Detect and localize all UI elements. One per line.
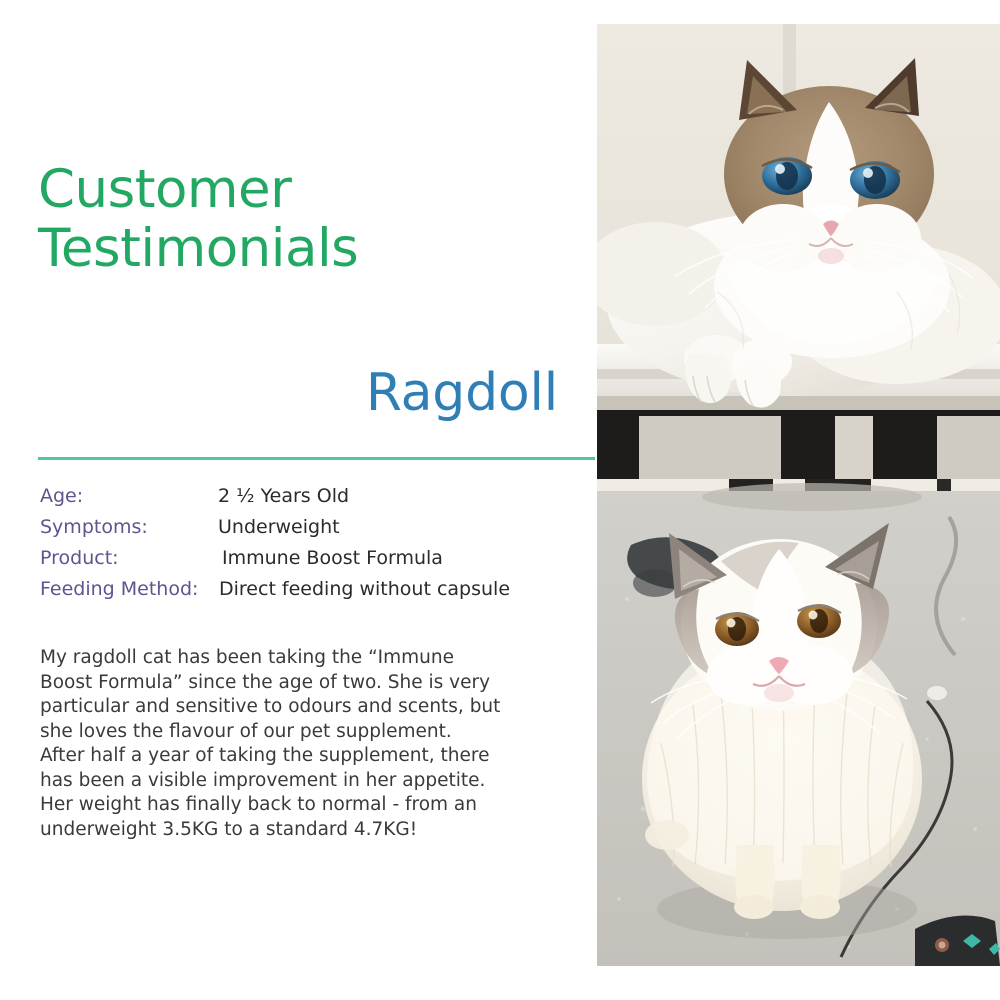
spec-row-symptoms: Symptoms: Underweight (40, 512, 560, 543)
spec-label-age: Age: (40, 481, 218, 512)
spec-value-feeding-method: Direct feeding without capsule (218, 574, 510, 605)
spec-row-product: Product: Immune Boost Formula (40, 543, 560, 574)
spec-label-feeding-method: Feeding Method: (40, 574, 218, 605)
spec-value-age: 2 ½ Years Old (218, 481, 349, 512)
spec-row-feeding-method: Feeding Method: Direct feeding without c… (40, 574, 560, 605)
testimonial-line: has been a visible improvement in her ap… (40, 769, 540, 794)
spec-row-age: Age: 2 ½ Years Old (40, 481, 560, 512)
testimonial-page: Customer Testimonials Ragdoll Age: 2 ½ Y… (0, 0, 1000, 1000)
testimonial-line: After half a year of taking the suppleme… (40, 744, 540, 769)
spec-label-symptoms: Symptoms: (40, 512, 218, 543)
section-divider (38, 457, 595, 460)
page-title-line-1: Customer (38, 160, 458, 219)
spec-value-product: Immune Boost Formula (218, 543, 443, 574)
testimonial-body-text: My ragdoll cat has been taking the “Immu… (40, 646, 540, 842)
ragdoll-cat-on-table-photo (597, 24, 1000, 479)
left-content-column: Customer Testimonials Ragdoll Age: 2 ½ Y… (0, 0, 597, 1000)
spec-label-product: Product: (40, 543, 218, 574)
testimonial-line: she loves the flavour of our pet supplem… (40, 720, 540, 745)
testimonial-line: Her weight has finally back to normal - … (40, 793, 540, 818)
testimonial-line: particular and sensitive to odours and s… (40, 695, 540, 720)
cat-profile-spec-table: Age: 2 ½ Years Old Symptoms: Underweight… (40, 481, 560, 605)
ragdoll-cat-sitting-photo (597, 479, 1000, 966)
breed-name-heading: Ragdoll (38, 365, 558, 422)
testimonial-line: My ragdoll cat has been taking the “Immu… (40, 646, 540, 671)
testimonial-line: Boost Formula” since the age of two. She… (40, 671, 540, 696)
page-title-line-2: Testimonials (38, 219, 458, 278)
testimonial-line: underweight 3.5KG to a standard 4.7KG! (40, 818, 540, 843)
page-title: Customer Testimonials (38, 160, 458, 279)
spec-value-symptoms: Underweight (218, 512, 340, 543)
